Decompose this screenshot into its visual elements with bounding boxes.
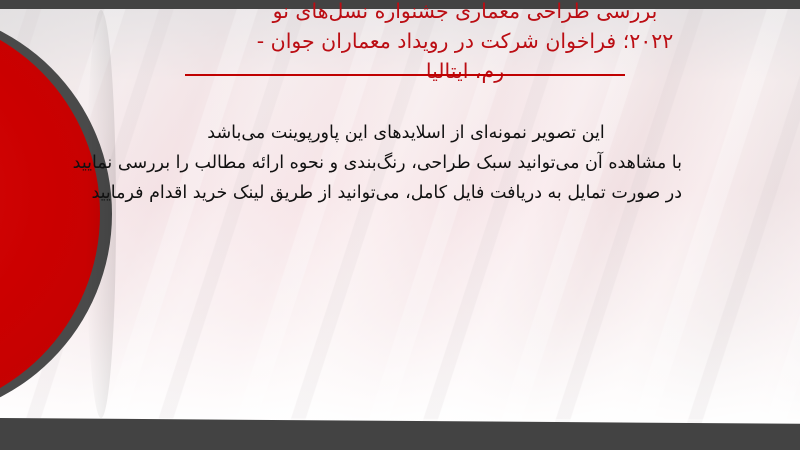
title-line-2: ۲۰۲۲؛ فراخوان شرکت در رویداد معماران جوا…: [140, 26, 790, 56]
title-line-1: بررسی طراحی معماری جشنواره نسل‌های نو: [140, 0, 790, 26]
slide-content: بررسی طراحی معماری جشنواره نسل‌های نو ۲۰…: [0, 0, 800, 450]
body-line-3: در صورت تمایل به دریافت فایل کامل، می‌تو…: [130, 178, 682, 208]
title-divider-line: [185, 74, 625, 76]
body-line-2: با مشاهده آن می‌توانید سبک طراحی، رنگ‌بن…: [130, 148, 682, 178]
slide-body: این تصویر نمونه‌ای از اسلایدهای این پاور…: [130, 118, 682, 208]
slide-title: بررسی طراحی معماری جشنواره نسل‌های نو ۲۰…: [140, 0, 790, 86]
body-line-1: این تصویر نمونه‌ای از اسلایدهای این پاور…: [130, 118, 682, 148]
title-line-3: رم، ایتالیا: [140, 56, 790, 86]
slide-canvas: بررسی طراحی معماری جشنواره نسل‌های نو ۲۰…: [0, 0, 800, 450]
